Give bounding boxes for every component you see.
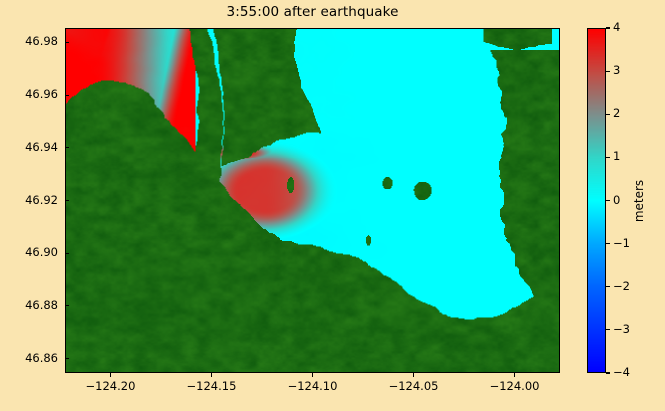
colorbar-tick-label: 4 bbox=[613, 20, 620, 34]
colorbar-tick-label: 0 bbox=[613, 193, 620, 207]
x-tick-mark bbox=[413, 373, 414, 377]
map-plot-area[interactable] bbox=[65, 28, 560, 373]
x-tick-label: −124.05 bbox=[389, 379, 439, 393]
y-tick-mark bbox=[65, 305, 69, 306]
y-tick-mark bbox=[65, 147, 69, 148]
x-tick-mark bbox=[211, 373, 212, 377]
x-tick-mark bbox=[514, 373, 515, 377]
colorbar-tick-mark bbox=[606, 157, 610, 158]
y-tick-label: 46.86 bbox=[25, 351, 58, 365]
y-tick-mark bbox=[65, 42, 69, 43]
colorbar-tick-mark bbox=[606, 243, 610, 244]
colorbar-tick-mark bbox=[606, 372, 610, 373]
colorbar-tick-label: −2 bbox=[613, 279, 630, 293]
colorbar-tick-mark bbox=[606, 329, 610, 330]
heatmap-image bbox=[66, 29, 559, 372]
x-tick-mark bbox=[110, 373, 111, 377]
colorbar-tick-mark bbox=[606, 71, 610, 72]
y-tick-mark bbox=[65, 95, 69, 96]
x-tick-label: −124.15 bbox=[187, 379, 237, 393]
y-tick-label: 46.88 bbox=[25, 298, 58, 312]
colorbar-tick-mark bbox=[606, 200, 610, 201]
y-tick-mark bbox=[65, 358, 69, 359]
y-tick-mark bbox=[65, 253, 69, 254]
colorbar[interactable] bbox=[587, 28, 606, 373]
colorbar-tick-mark bbox=[606, 27, 610, 28]
colorbar-gradient bbox=[588, 29, 605, 372]
figure-canvas: 3:55:00 after earthquake 46.8646.8846.90… bbox=[0, 0, 665, 411]
y-tick-label: 46.92 bbox=[25, 193, 58, 207]
y-tick-label: 46.90 bbox=[25, 245, 58, 259]
colorbar-label: meters bbox=[630, 28, 648, 373]
colorbar-tick-mark bbox=[606, 286, 610, 287]
colorbar-tick-mark bbox=[606, 114, 610, 115]
y-tick-mark bbox=[65, 200, 69, 201]
x-tick-mark bbox=[312, 373, 313, 377]
colorbar-tick-label: 3 bbox=[613, 63, 620, 77]
x-tick-label: −124.20 bbox=[86, 379, 136, 393]
x-tick-label: −124.10 bbox=[288, 379, 338, 393]
colorbar-tick-label: −1 bbox=[613, 236, 630, 250]
colorbar-tick-label: −4 bbox=[613, 365, 630, 379]
colorbar-tick-label: 2 bbox=[613, 106, 620, 120]
y-tick-label: 46.96 bbox=[25, 87, 58, 101]
page-title: 3:55:00 after earthquake bbox=[65, 4, 560, 20]
y-tick-label: 46.98 bbox=[25, 34, 58, 48]
colorbar-label-text: meters bbox=[632, 179, 646, 221]
colorbar-tick-label: −3 bbox=[613, 322, 630, 336]
colorbar-tick-label: 1 bbox=[613, 149, 620, 163]
x-tick-label: −124.00 bbox=[490, 379, 540, 393]
y-tick-label: 46.94 bbox=[25, 140, 58, 154]
